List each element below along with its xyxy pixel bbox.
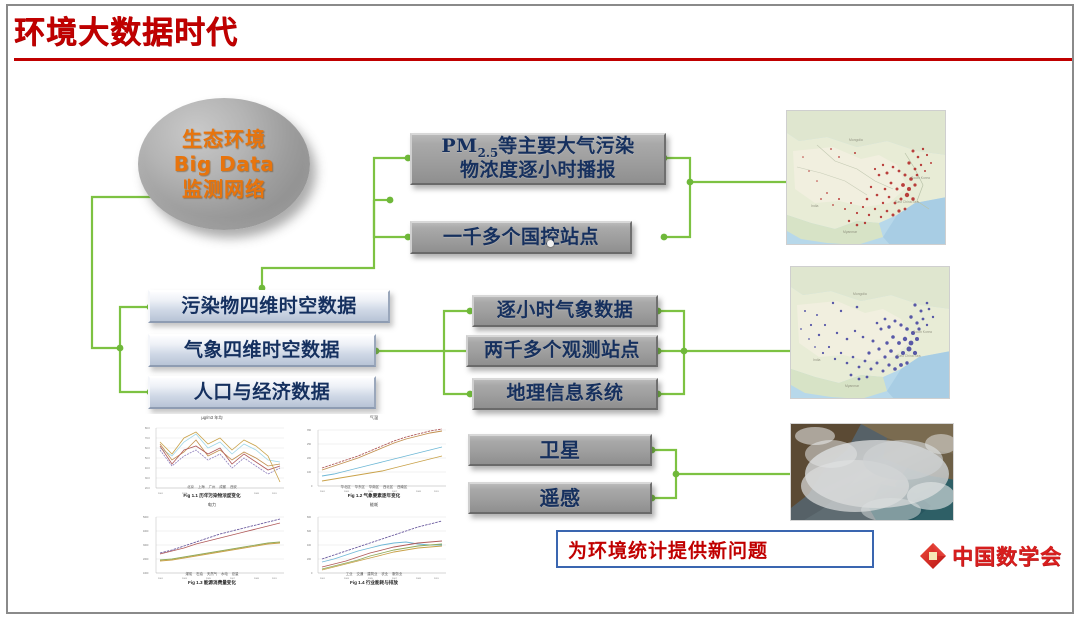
svg-text:South Korea: South Korea [913,330,932,334]
svg-text:80.0: 80.0 [145,427,150,430]
hub-line-2: Big Data [174,152,275,177]
callout-text: 为环境统计提供新问题 [568,536,768,563]
node-remote-sensing-label: 遥感 [540,487,581,509]
page-title: 环境大数据时代 [14,14,238,52]
mini-chart-2-legend-0: 煤炭 [185,572,192,576]
mini-chart-1-legend-2: 华南区 [369,485,379,489]
mini-chart-1-caption: Fig 1.2 气象要素逐年变化 [294,493,454,499]
mini-chart-0-caption: Fig 1.1 历年污染物浓度变化 [132,493,292,499]
svg-text:30.0: 30.0 [145,477,150,480]
callout-new-problems-box[interactable]: 为环境统计提供新问题 [556,530,874,568]
svg-text:Myanmar: Myanmar [845,384,860,388]
china-air-monitoring-stations-map: Mongolia South Korea East China Sea Indi… [787,111,946,245]
mini-chart-3[interactable]: 能耗 800600400 2000 2001 [294,501,454,586]
china-weather-stations-map: Mongolia South Korea East China Sea Indi… [791,267,950,399]
mini-chart-1-legend: 华北区 华东区 华南区 西北区 西南区 [294,484,454,489]
svg-text:250: 250 [307,443,312,446]
svg-text:3000: 3000 [143,544,149,547]
node-population-economy-label: 人口与经济数据 [194,382,331,403]
svg-text:India: India [811,204,818,208]
svg-text:100: 100 [307,471,312,474]
title-underline-rule [14,58,1072,61]
node-satellite[interactable]: 卫星 [468,434,652,466]
node-observation-stations-label: 两千多个观测站点 [484,340,640,361]
mini-chart-2-caption: Fig 1.3 能源消费量变化 [132,580,292,586]
mini-chart-3-legend: 工业 交通 建筑业 农业 服务业 [294,571,454,576]
node-gis-label: 地理信息系统 [506,383,623,404]
mini-chart-0-legend: 北京 上海 广州 成都 西安 [132,484,292,489]
svg-text:Mongolia: Mongolia [849,138,863,142]
mini-chart-1[interactable]: 气温 350250200 1000 200120032005 [294,414,454,499]
node-meteorology-4d-label: 气象四维时空数据 [184,340,340,361]
svg-text:40.0: 40.0 [145,467,150,470]
node-national-control-stations-label: 一千多个国控站点 [443,227,599,248]
mini-chart-2-legend: 煤炭 石油 天然气 水电 总量 [132,571,292,576]
hub-line-1: 生态环境 [182,127,266,152]
node-pollutant-4d-spatiotemporal-data[interactable]: 污染物四维时空数据 [148,290,390,323]
node-meteorology-4d-spatiotemporal-data[interactable]: 气象四维时空数据 [148,334,376,367]
svg-text:70.0: 70.0 [145,437,150,440]
node-hourly-meteorological-label: 逐小时气象数据 [497,300,634,321]
svg-text:350: 350 [307,429,312,432]
svg-text:South Korea: South Korea [911,176,930,180]
svg-text:East China Sea: East China Sea [895,200,919,204]
svg-text:5000: 5000 [143,516,149,519]
mini-chart-2-legend-1: 石油 [196,572,203,576]
mini-chart-2-legend-2: 天然气 [207,572,217,576]
mini-chart-0[interactable]: µg/m3 年均 80.070.060.0 50.040.030.020.0 [132,414,292,499]
svg-text:200: 200 [307,457,312,460]
slide-canvas: 环境大数据时代 [0,0,1080,618]
node-hourly-meteorological-data[interactable]: 逐小时气象数据 [472,295,658,327]
slide-title-bar: 环境大数据时代 [8,6,1072,62]
node-pm25-text: 等主要大气污染 [498,135,635,157]
organization-logo[interactable]: 中国数学会 [918,538,1068,574]
mini-chart-0-legend-3: 成都 [219,485,226,489]
svg-text:200: 200 [307,558,312,561]
svg-text:50.0: 50.0 [145,457,150,460]
node-remote-sensing[interactable]: 遥感 [468,482,652,514]
mini-chart-0-legend-1: 上海 [198,485,205,489]
node-population-economy-data[interactable]: 人口与经济数据 [148,376,376,409]
panel-satellite-haze-image[interactable] [790,423,954,521]
node-gis[interactable]: 地理信息系统 [472,378,658,410]
svg-text:4000: 4000 [143,530,149,533]
mini-chart-3-legend-4: 服务业 [392,572,402,576]
mini-chart-0-legend-0: 北京 [187,485,194,489]
panel-china-air-monitoring-map[interactable]: Mongolia South Korea East China Sea Indi… [786,110,946,245]
svg-text:Myanmar: Myanmar [843,230,858,234]
node-national-control-stations[interactable]: 一千多个国控站点 [410,221,632,254]
hub-line-3: 监测网络 [182,177,266,202]
mini-chart-3-legend-0: 工业 [346,572,353,576]
hub-ellipse-eco-bigdata-network[interactable]: 生态环境 Big Data 监测网络 [138,98,310,230]
node-pollutant-4d-label: 污染物四维时空数据 [181,296,357,317]
diamond-logo-icon [918,541,948,571]
mini-chart-0-legend-4: 西安 [230,485,237,489]
node-observation-stations[interactable]: 两千多个观测站点 [466,335,658,367]
svg-text:60.0: 60.0 [145,447,150,450]
mini-chart-1-legend-0: 华北区 [341,485,351,489]
node-pm25-hourly-broadcast[interactable]: PM2.5等主要大气污染 物浓度逐小时播报 [410,133,666,185]
svg-text:400: 400 [307,544,312,547]
svg-text:Mongolia: Mongolia [853,292,867,296]
svg-text:India: India [813,358,820,362]
mini-chart-0-legend-2: 广州 [209,485,216,489]
svg-text:800: 800 [307,516,312,519]
svg-text:600: 600 [307,530,312,533]
satellite-haze-image [791,424,954,521]
mini-chart-2[interactable]: 电力 500040003000 20001000 200120 [132,501,292,586]
mini-chart-2-legend-4: 总量 [232,572,239,576]
mouse-cursor-artifact [547,240,554,247]
logo-text: 中国数学会 [952,541,1062,571]
mini-chart-3-caption: Fig 1.4 行业能耗与排放 [294,580,454,586]
mini-chart-3-legend-2: 建筑业 [367,572,377,576]
panel-china-weather-stations-map[interactable]: Mongolia South Korea East China Sea Indi… [790,266,950,399]
svg-text:East China Sea: East China Sea [897,354,921,358]
mini-chart-1-legend-1: 华东区 [355,485,365,489]
node-pm25-line-2: 物浓度逐小时播报 [460,160,616,181]
mini-chart-1-legend-4: 西南区 [397,485,407,489]
svg-text:2000: 2000 [143,558,149,561]
charts-thumbnail-grid[interactable]: µg/m3 年均 80.070.060.0 50.040.030.020.0 [132,414,454,586]
mini-chart-3-legend-1: 交通 [356,572,363,576]
node-pm25-prefix: PM [441,135,477,157]
node-pm25-line-1: PM2.5等主要大气污染 [441,136,634,160]
mini-chart-3-legend-3: 农业 [381,572,388,576]
node-satellite-label: 卫星 [540,439,581,461]
mini-chart-1-legend-3: 西北区 [383,485,393,489]
mini-chart-2-legend-3: 水电 [221,572,228,576]
